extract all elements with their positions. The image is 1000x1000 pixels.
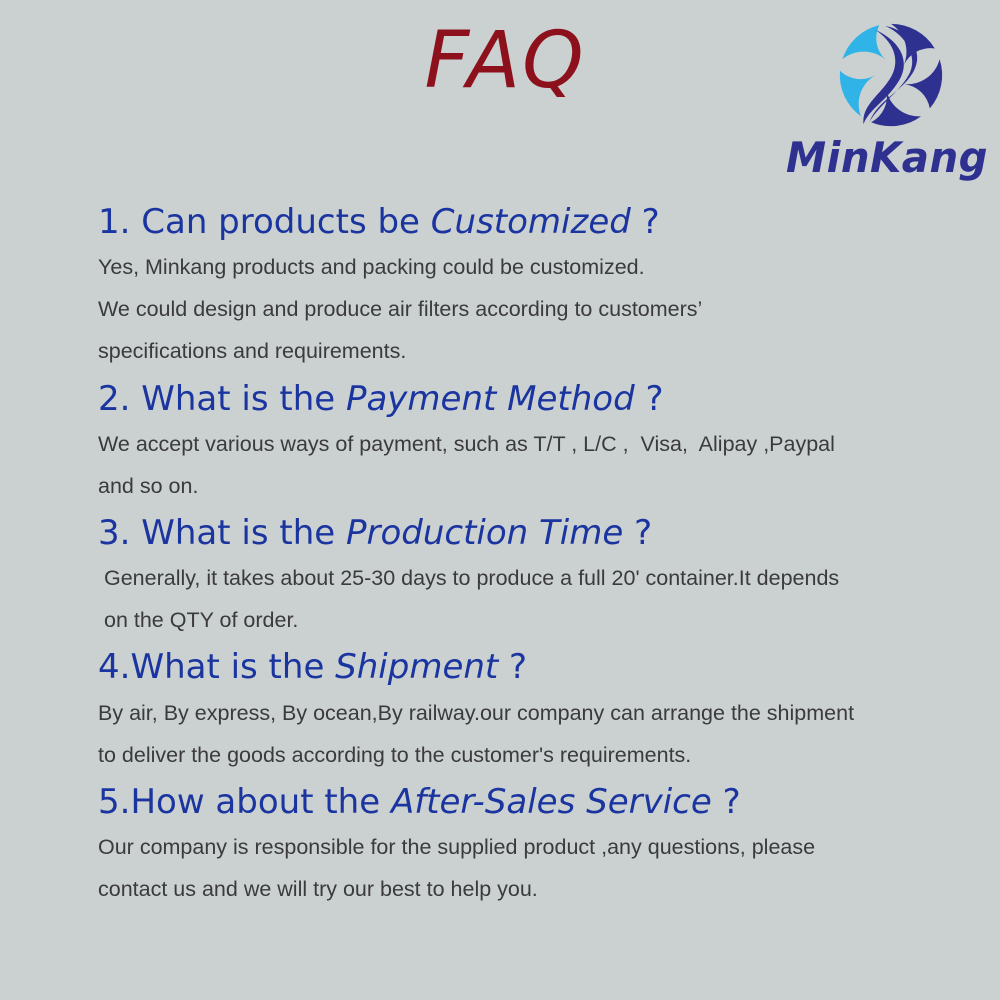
faq-question-number: 1. (98, 202, 141, 242)
faq-page: FAQ (0, 0, 1000, 1000)
faq-question-number: 3. (98, 513, 141, 553)
minkang-pinwheel-logo-icon (832, 16, 950, 134)
faq-item: 4.What is the Shipment ? By air, By expr… (98, 645, 970, 775)
brand-block: MinKang (758, 16, 988, 192)
faq-answer: Yes, Minkang products and packing could … (98, 246, 958, 372)
faq-question-number: 5. (98, 782, 130, 822)
faq-question-lead: What is the (141, 513, 346, 553)
faq-item: 1. Can products be Customized ? Yes, Min… (98, 200, 970, 373)
faq-question-emphasis: After-Sales Service (391, 782, 712, 822)
faq-question: 2. What is the Payment Method ? (98, 377, 970, 421)
faq-question: 3. What is the Production Time ? (98, 511, 970, 555)
faq-item: 2. What is the Payment Method ? We accep… (98, 377, 970, 507)
faq-question-tail: ? (498, 647, 527, 687)
faq-answer: We accept various ways of payment, such … (98, 423, 958, 507)
faq-list: 1. Can products be Customized ? Yes, Min… (0, 200, 1000, 910)
faq-question: 1. Can products be Customized ? (98, 200, 970, 244)
faq-answer: Our company is responsible for the suppl… (98, 826, 958, 910)
faq-item: 5.How about the After-Sales Service ? Ou… (98, 780, 970, 910)
faq-question-emphasis: Shipment (335, 647, 498, 687)
faq-question-lead: What is the (141, 379, 346, 419)
faq-question: 5.How about the After-Sales Service ? (98, 780, 970, 824)
faq-question-lead: Can products be (141, 202, 431, 242)
faq-question-lead: What is the (130, 647, 335, 687)
faq-question-tail: ? (712, 782, 741, 822)
faq-answer: By air, By express, By ocean,By railway.… (98, 692, 958, 776)
faq-answer: Generally, it takes about 25-30 days to … (98, 557, 958, 641)
faq-question-tail: ? (623, 513, 652, 553)
faq-question-tail: ? (631, 202, 660, 242)
faq-question-lead: How about the (130, 782, 391, 822)
faq-question-emphasis: Payment Method (346, 379, 635, 419)
faq-item: 3. What is the Production Time ? General… (98, 511, 970, 641)
faq-question-number: 4. (98, 647, 130, 687)
faq-question: 4.What is the Shipment ? (98, 645, 970, 689)
brand-name: MinKang (767, 134, 988, 182)
faq-question-tail: ? (635, 379, 664, 419)
faq-question-emphasis: Production Time (346, 513, 623, 553)
faq-question-emphasis: Customized (431, 202, 631, 242)
faq-question-number: 2. (98, 379, 141, 419)
page-header: FAQ (0, 0, 1000, 196)
